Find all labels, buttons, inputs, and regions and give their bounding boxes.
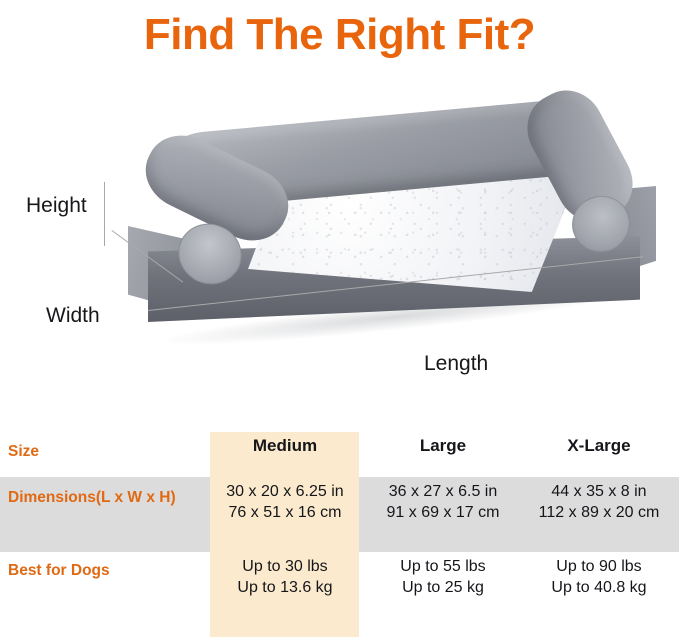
best-large-lbs: Up to 55 lbs: [363, 557, 523, 578]
cell-best-xlarge: Up to 90 lbs Up to 40.8 kg: [519, 557, 679, 599]
row-label-size: Size: [8, 444, 39, 460]
row-label-dimensions: Dimensions(L x W x H): [8, 490, 176, 506]
best-medium-lbs: Up to 30 lbs: [205, 557, 365, 578]
column-header-medium: Medium: [205, 437, 365, 454]
cell-dimensions-xlarge: 44 x 35 x 8 in 112 x 89 x 20 cm: [519, 482, 679, 524]
cell-dimensions-medium: 30 x 20 x 6.25 in 76 x 51 x 16 cm: [205, 482, 365, 524]
best-xlarge-kg: Up to 40.8 kg: [519, 578, 679, 599]
dimensions-large-cm: 91 x 69 x 17 cm: [363, 503, 523, 524]
dimensions-medium-in: 30 x 20 x 6.25 in: [205, 482, 365, 503]
column-header-large: Large: [363, 437, 523, 454]
best-large-kg: Up to 25 kg: [363, 578, 523, 599]
length-label: Length: [424, 353, 488, 374]
product-figure: Height Width Length: [0, 70, 679, 420]
size-table-content: Size Dimensions(L x W x H) Best for Dogs…: [0, 420, 679, 637]
dog-bed-illustration: [120, 108, 660, 358]
width-label: Width: [46, 305, 100, 326]
title-banner: Find The Right Fit?: [0, 0, 679, 70]
cell-best-medium: Up to 30 lbs Up to 13.6 kg: [205, 557, 365, 599]
cell-dimensions-large: 36 x 27 x 6.5 in 91 x 69 x 17 cm: [363, 482, 523, 524]
dimensions-xlarge-in: 44 x 35 x 8 in: [519, 482, 679, 503]
best-xlarge-lbs: Up to 90 lbs: [519, 557, 679, 578]
dimensions-medium-cm: 76 x 51 x 16 cm: [205, 503, 365, 524]
height-guide-line: [104, 182, 105, 246]
dimensions-large-in: 36 x 27 x 6.5 in: [363, 482, 523, 503]
page-title: Find The Right Fit?: [144, 13, 535, 57]
cell-best-large: Up to 55 lbs Up to 25 kg: [363, 557, 523, 599]
column-header-xlarge: X-Large: [519, 437, 679, 454]
best-medium-kg: Up to 13.6 kg: [205, 578, 365, 599]
row-label-best-for-dogs: Best for Dogs: [8, 563, 110, 579]
dimensions-xlarge-cm: 112 x 89 x 20 cm: [519, 503, 679, 524]
size-comparison-table: Size Dimensions(L x W x H) Best for Dogs…: [0, 420, 679, 637]
height-label: Height: [26, 195, 87, 216]
